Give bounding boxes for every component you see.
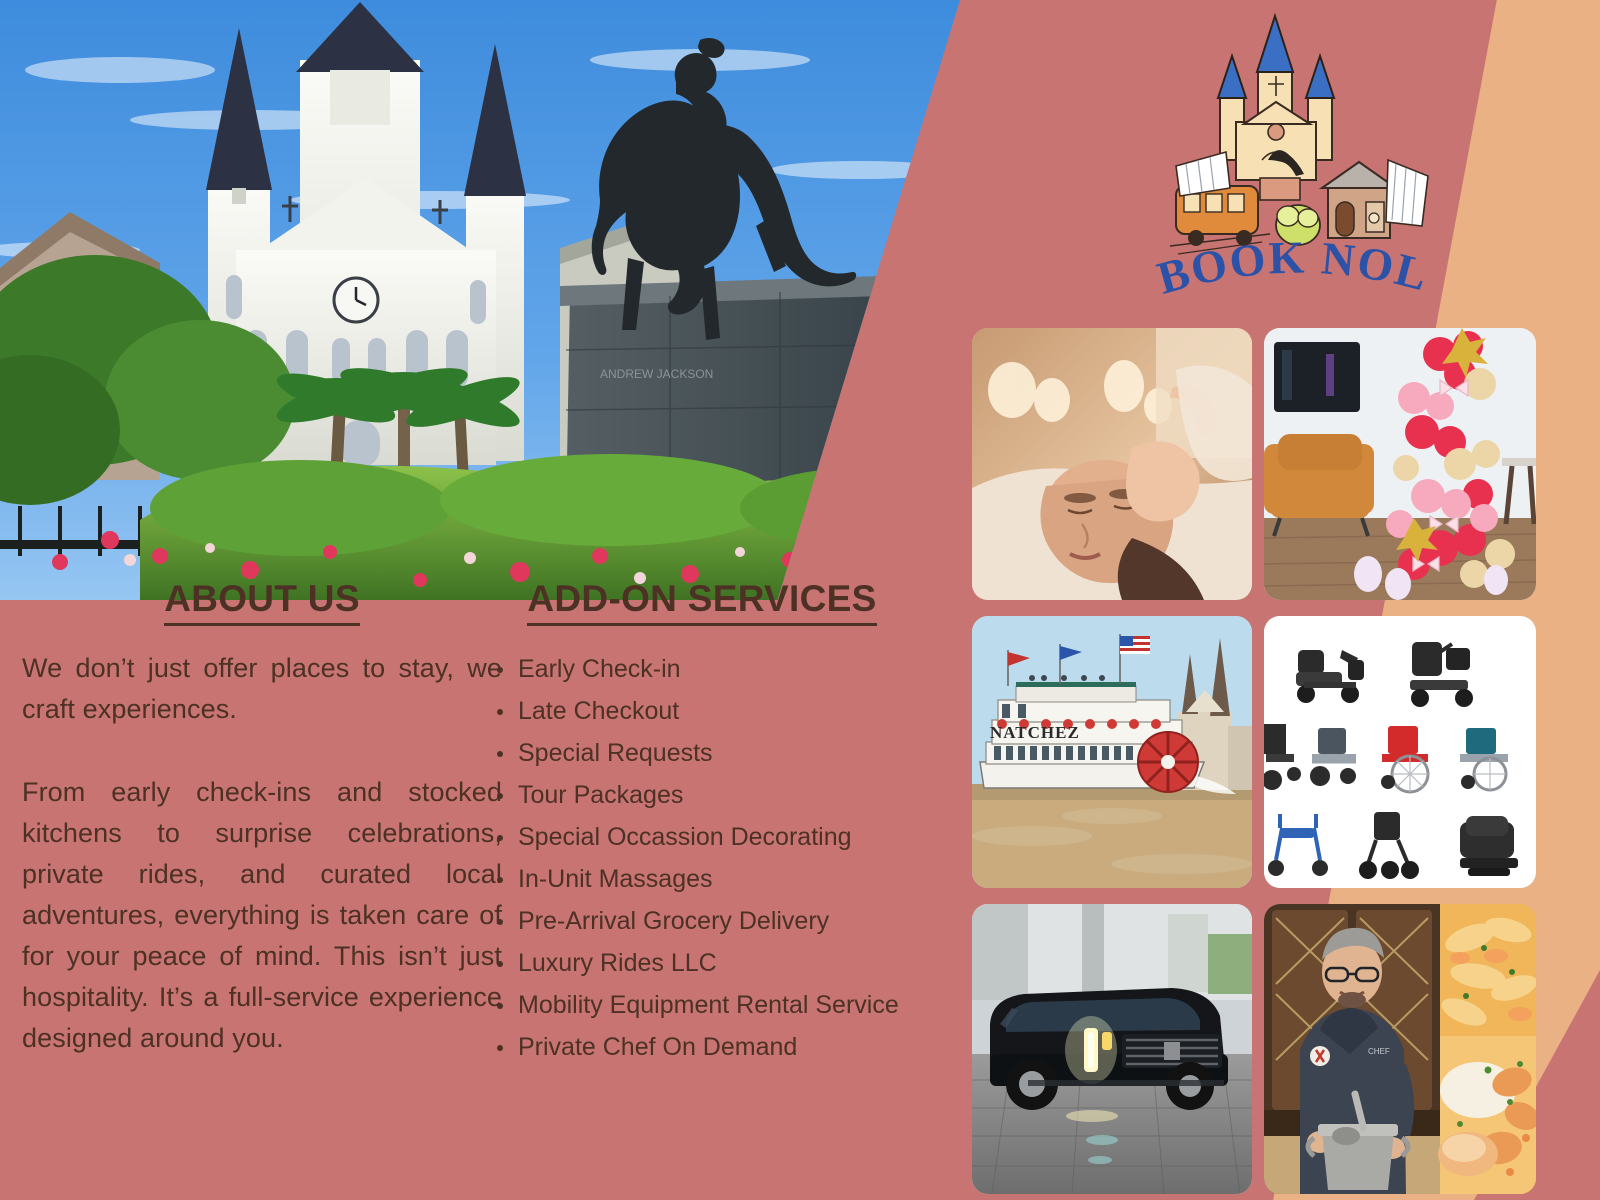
service-item: Late Checkout (492, 690, 912, 732)
service-item: Special Occassion Decorating (492, 816, 912, 858)
add-on-services-heading: ADD-ON SERVICES (527, 578, 876, 626)
brochure-page: SAINT LOUISCATHEDRAL ANDREW JACKSON (0, 0, 1600, 1200)
about-paragraph-1: We don’t just offer places to stay, we c… (22, 648, 502, 730)
service-item: Special Requests (492, 732, 912, 774)
gallery-photo-spa-massage (972, 328, 1252, 600)
service-item: Mobility Equipment Rental Service (492, 984, 912, 1026)
service-item: Early Check-in (492, 648, 912, 690)
gallery-photo-luxury-suv (972, 904, 1252, 1194)
gallery-photo-balloon-decor (1264, 328, 1536, 600)
service-item: In-Unit Massages (492, 858, 912, 900)
photo-gallery-grid: NATCHEZ (968, 328, 1580, 1194)
about-us-section: ABOUT US We don’t just offer places to s… (22, 578, 502, 1059)
brand-logo: BOOK NOLA (1140, 10, 1430, 310)
hero-image-jackson-square: SAINT LOUISCATHEDRAL ANDREW JACKSON (0, 0, 960, 600)
svg-text:CHEF: CHEF (1368, 1047, 1390, 1056)
about-us-heading: ABOUT US (164, 578, 360, 626)
service-item: Tour Packages (492, 774, 912, 816)
service-item: Private Chef On Demand (492, 1026, 912, 1068)
add-on-services-list: Early Check-in Late Checkout Special Req… (492, 648, 912, 1068)
add-on-services-section: ADD-ON SERVICES Early Check-in Late Chec… (492, 578, 912, 1068)
service-item: Pre-Arrival Grocery Delivery (492, 900, 912, 942)
gallery-photo-mobility-equipment (1264, 616, 1536, 888)
service-item: Luxury Rides LLC (492, 942, 912, 984)
gallery-photo-steamboat-natchez: NATCHEZ (972, 616, 1252, 888)
about-paragraph-2: From early check-ins and stocked kitchen… (22, 772, 502, 1059)
gallery-photo-private-chef: CHEF (1264, 904, 1536, 1194)
steamboat-name-label: NATCHEZ (990, 723, 1080, 742)
svg-text:ANDREW JACKSON: ANDREW JACKSON (600, 367, 713, 381)
